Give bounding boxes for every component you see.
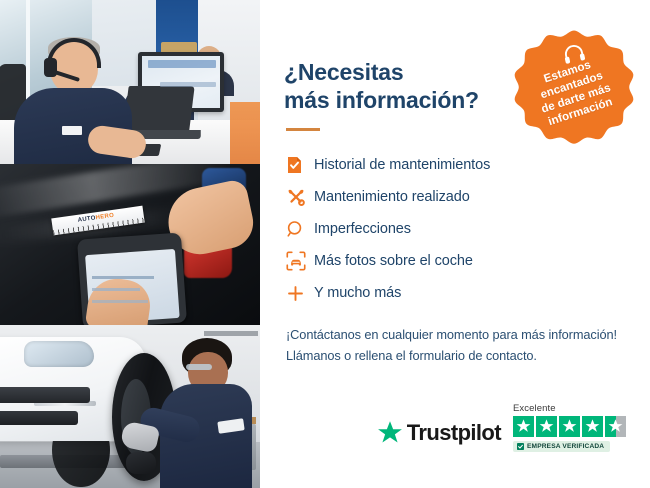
feature-item-and-more: Y mucho más	[286, 277, 626, 309]
orange-equipment	[230, 102, 260, 164]
trustpilot-stars	[513, 416, 626, 437]
monitor-content-bar-secondary	[160, 82, 216, 87]
info-banner: AUTOHERO	[0, 0, 650, 488]
tablet-screen-row-3	[92, 300, 148, 303]
mechanic-figure	[156, 338, 252, 488]
paragraph-line-1: ¡Contáctanos en cualquier momento para m…	[286, 327, 617, 342]
feature-label: Más fotos sobre el coche	[314, 253, 473, 269]
verified-company-badge: EMPRESA VERIFICADA	[513, 441, 610, 452]
tools-cross-icon	[286, 187, 314, 207]
star-filled-2	[536, 416, 557, 437]
page-title: ¿Necesitas más información?	[284, 58, 504, 114]
car-scan-icon	[286, 251, 314, 271]
trustpilot-logo[interactable]: Trustpilot	[377, 420, 501, 446]
star-filled-4	[582, 416, 603, 437]
verified-check-icon	[517, 443, 524, 450]
magnifier-icon	[286, 220, 314, 239]
trustpilot-score-block: Excelente	[513, 403, 626, 452]
feature-label: Mantenimiento realizado	[314, 189, 470, 205]
title-divider	[286, 128, 320, 131]
headline-line-2: más información?	[284, 87, 479, 113]
star-filled-3	[559, 416, 580, 437]
feature-item-maintenance-done: Mantenimiento realizado	[286, 181, 626, 213]
monitor-content-bar	[148, 60, 216, 68]
plus-icon	[286, 284, 314, 303]
laptop	[123, 86, 194, 130]
mechanic-wheel-photo	[0, 325, 260, 488]
feature-label: Imperfecciones	[314, 221, 411, 237]
agent-figure	[14, 40, 132, 164]
feature-label: Historial de mantenimientos	[314, 157, 490, 173]
clipboard-check-icon	[286, 155, 314, 175]
contact-paragraph: ¡Contáctanos en cualquier momento para m…	[286, 325, 626, 366]
ruler-brand-prefix: AUTO	[77, 215, 96, 223]
workshop-shelf	[204, 331, 258, 336]
car-inspection-ruler-photo: AUTOHERO	[0, 164, 260, 325]
agent-name-badge	[62, 126, 82, 135]
call-center-agent-photo	[0, 0, 260, 164]
content-panel: Estamos encantados de darte más informac…	[260, 0, 650, 488]
mechanic-glove-lower	[126, 452, 156, 474]
car-grille-upper	[0, 387, 90, 403]
ruler-brand-suffix: HERO	[95, 213, 114, 222]
verified-company-label: EMPRESA VERIFICADA	[527, 443, 604, 450]
trustpilot-rating[interactable]: Trustpilot Excelente	[284, 403, 626, 452]
trustpilot-star-icon	[377, 420, 403, 446]
star-filled-1	[513, 416, 534, 437]
paragraph-line-2: Llámanos o rellena el formulario de cont…	[286, 348, 537, 363]
car-grille-lower	[0, 411, 78, 425]
car-headlight	[24, 341, 94, 367]
feature-item-more-photos: Más fotos sobre el coche	[286, 245, 626, 277]
trustpilot-wordmark: Trustpilot	[407, 420, 501, 446]
feature-label: Y mucho más	[314, 285, 401, 301]
feature-list: Historial de mantenimientos Mantenimient…	[286, 149, 626, 309]
headline-line-1: ¿Necesitas	[284, 59, 403, 85]
safety-glasses-icon	[186, 364, 212, 370]
photo-column: AUTOHERO	[0, 0, 260, 488]
star-partial-5	[605, 416, 626, 437]
feature-item-imperfections: Imperfecciones	[286, 213, 626, 245]
promo-starburst-badge: Estamos encantados de darte más informac…	[512, 28, 636, 152]
feature-item-maintenance-history: Historial de mantenimientos	[286, 149, 626, 181]
tablet-screen-row-1	[92, 276, 154, 279]
trustpilot-rating-label: Excelente	[513, 403, 556, 414]
tablet-screen-row-2	[92, 288, 140, 291]
